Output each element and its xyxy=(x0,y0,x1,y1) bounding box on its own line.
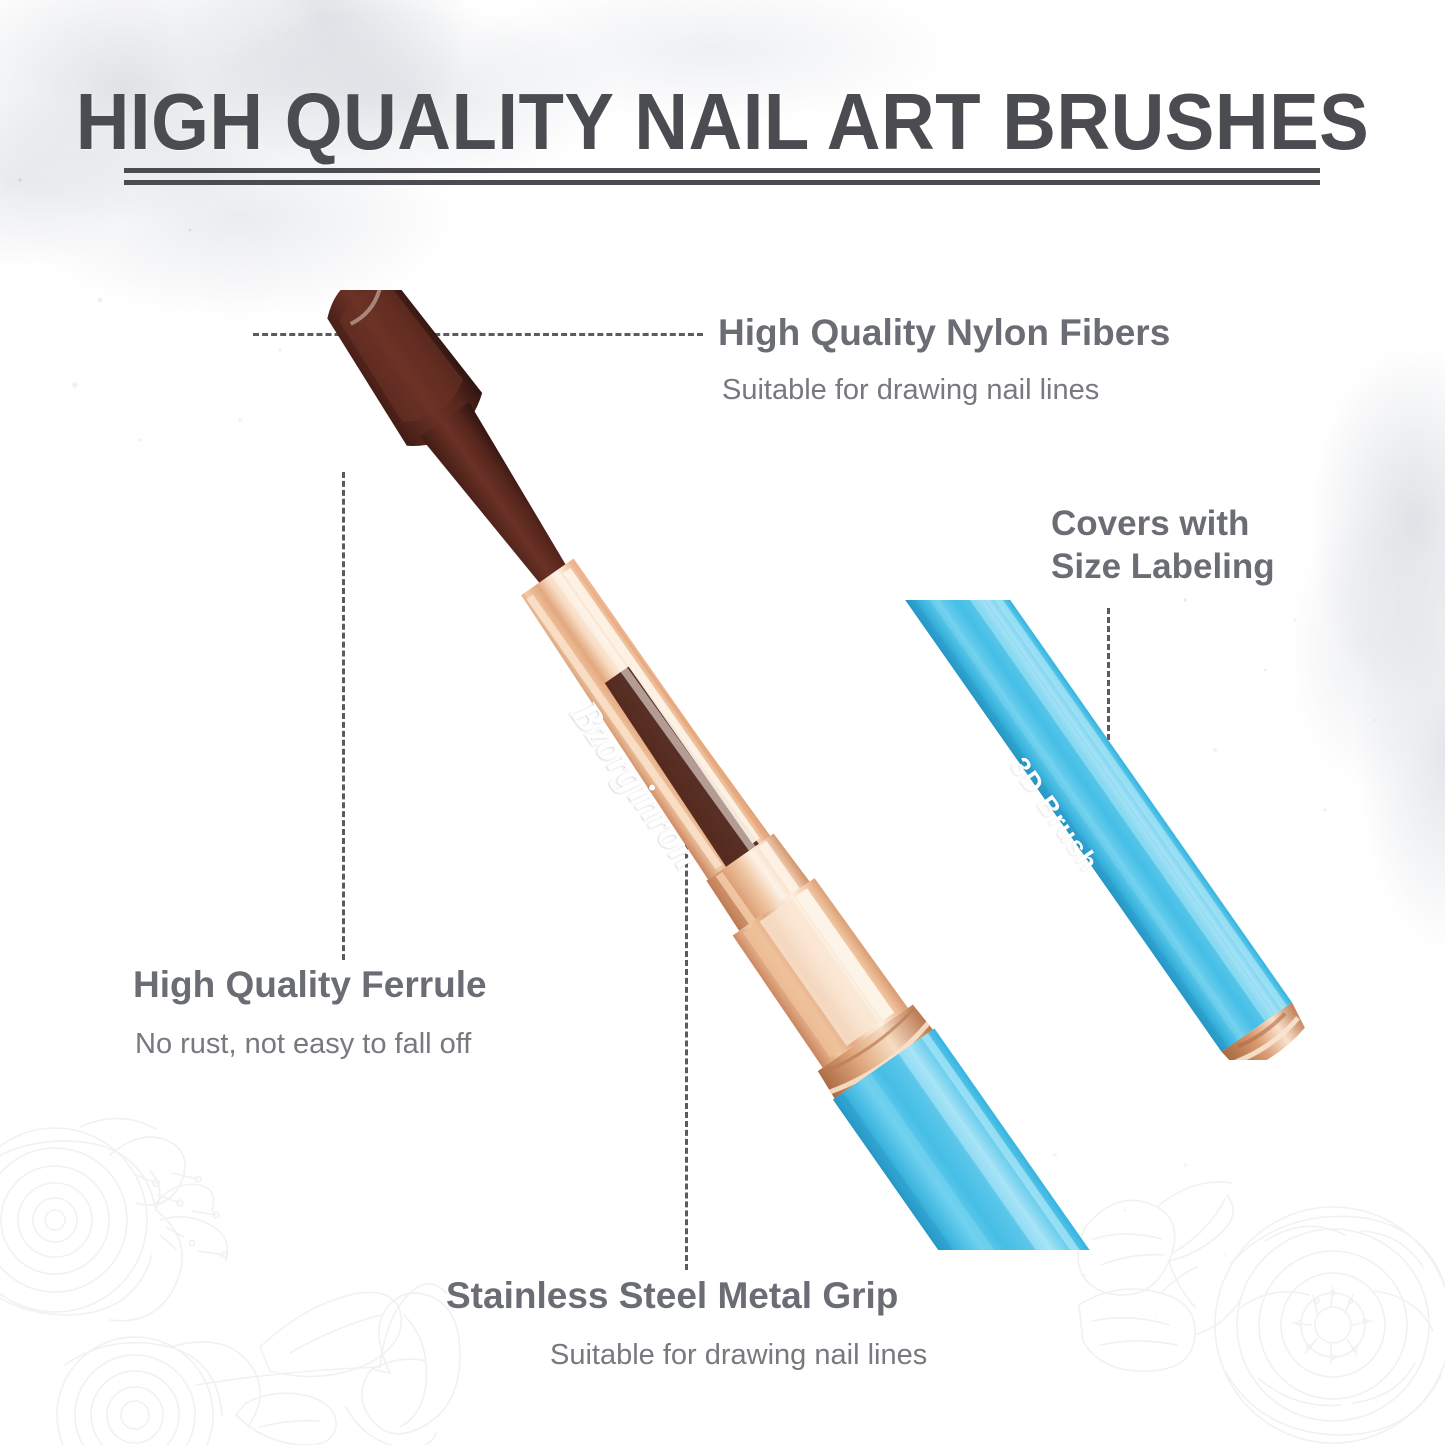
callout-stainless-steel-metal-grip: Stainless Steel Metal Grip Suitable for … xyxy=(446,1276,927,1373)
callout-ferrule-heading: High Quality Ferrule xyxy=(133,965,487,1006)
nail-art-brush-illustration xyxy=(150,290,1230,1250)
callout-nylon-fibers: High Quality Nylon Fibers Suitable for d… xyxy=(718,313,1170,408)
cap-size-label: 3D Brush xyxy=(1004,752,1105,878)
callout-grip-subtext: Suitable for drawing nail lines xyxy=(550,1337,927,1373)
infographic-page: HIGH QUALITY NAIL ART BRUSHES xyxy=(0,0,1445,1445)
rose-line-art-bottom-left xyxy=(0,1115,480,1445)
leader-line-covers xyxy=(1107,608,1110,794)
callout-high-quality-ferrule: High Quality Ferrule No rust, not easy t… xyxy=(133,965,487,1062)
callout-grip-heading: Stainless Steel Metal Grip xyxy=(446,1276,927,1317)
watercolor-wash-top-left xyxy=(0,0,560,400)
brush-cap-illustration xyxy=(860,600,1380,1060)
page-title: HIGH QUALITY NAIL ART BRUSHES xyxy=(51,76,1395,168)
callout-covers-heading: Covers with Size Labeling xyxy=(1051,503,1341,588)
callout-ferrule-subtext: No rust, not easy to fall off xyxy=(135,1026,487,1062)
title-underline-rule-1 xyxy=(124,168,1320,173)
speckle-texture-bottom-right xyxy=(1015,1115,1315,1355)
brand-label: Bzorginron xyxy=(561,692,711,878)
leader-line-nylon-fibers xyxy=(253,333,703,336)
title-underline-rule-2 xyxy=(124,180,1320,185)
title-underline xyxy=(124,168,1320,185)
leader-line-metal-grip xyxy=(685,808,688,1270)
peony-line-art-bottom-right xyxy=(1045,1135,1445,1445)
speckle-texture-right xyxy=(1145,560,1445,980)
callout-nylon-heading: High Quality Nylon Fibers xyxy=(718,313,1170,354)
callout-covers-size-labeling: Covers with Size Labeling xyxy=(1051,503,1341,588)
callout-nylon-subtext: Suitable for drawing nail lines xyxy=(722,372,1170,408)
watercolor-wash-right xyxy=(1155,330,1445,970)
leader-line-ferrule xyxy=(342,472,345,960)
